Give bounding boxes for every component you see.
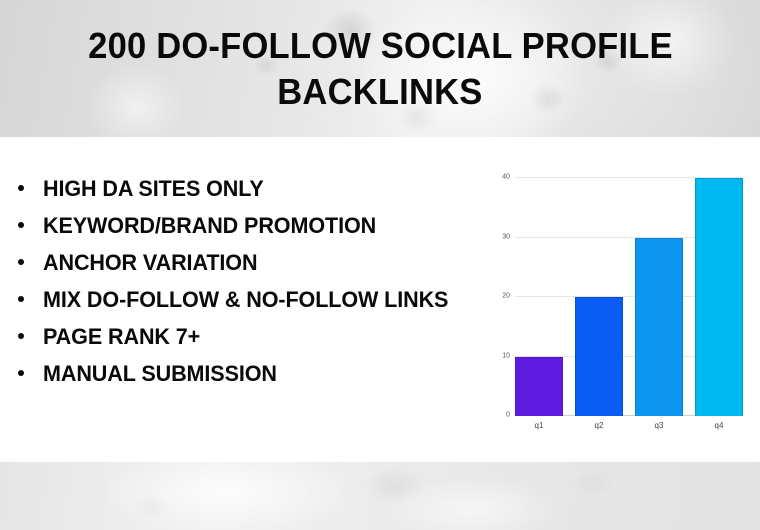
chart-bar-slot[interactable]: q1 [515, 178, 563, 416]
feature-list: HIGH DA SITES ONLY KEYWORD/BRAND PROMOTI… [18, 176, 457, 398]
list-item: ANCHOR VARIATION [18, 250, 457, 287]
chart-bars: q1q2q3q4 [515, 178, 743, 416]
x-axis-tick-label: q3 [635, 422, 683, 430]
page-title-line-2: BACKLINKS [277, 69, 482, 115]
feature-label: MANUAL SUBMISSION [43, 361, 277, 387]
feature-label: HIGH DA SITES ONLY [43, 176, 264, 202]
list-item: KEYWORD/BRAND PROMOTION [18, 213, 457, 250]
feature-label: ANCHOR VARIATION [43, 250, 257, 276]
list-item: MANUAL SUBMISSION [18, 361, 457, 398]
feature-label: KEYWORD/BRAND PROMOTION [43, 213, 376, 239]
list-item: MIX DO-FOLLOW & NO-FOLLOW LINKS [18, 287, 457, 324]
y-axis-tick-label: 0 [506, 412, 510, 419]
chart-bar[interactable] [635, 238, 683, 417]
feature-label: MIX DO-FOLLOW & NO-FOLLOW LINKS [43, 287, 448, 313]
list-item: PAGE RANK 7+ [18, 324, 457, 361]
y-axis-tick-label: 30 [502, 233, 510, 240]
bullet-dot-icon [18, 370, 24, 376]
bullet-dot-icon [18, 296, 24, 302]
chart-bar[interactable] [695, 178, 743, 416]
bar-chart: 010203040 q1q2q3q4 [490, 168, 752, 430]
page-title-line-1: 200 DO-FOLLOW SOCIAL PROFILE [88, 23, 673, 69]
poster-canvas: 200 DO-FOLLOW SOCIAL PROFILE BACKLINKS H… [0, 0, 760, 530]
footer-background-texture [0, 462, 760, 530]
x-axis-tick-label: q2 [575, 422, 623, 430]
chart-bar[interactable] [575, 297, 623, 416]
y-axis-tick-label: 20 [502, 293, 510, 300]
bullet-dot-icon [18, 259, 24, 265]
chart-bar[interactable] [515, 357, 563, 417]
chart-bar-slot[interactable]: q2 [575, 178, 623, 416]
bullet-dot-icon [18, 185, 24, 191]
page-title: 200 DO-FOLLOW SOCIAL PROFILE BACKLINKS [0, 0, 760, 137]
list-item: HIGH DA SITES ONLY [18, 176, 457, 213]
chart-bar-slot[interactable]: q3 [635, 178, 683, 416]
x-axis-tick-label: q1 [515, 422, 563, 430]
x-axis-tick-label: q4 [695, 422, 743, 430]
bullet-dot-icon [18, 222, 24, 228]
y-axis-tick-label: 10 [502, 352, 510, 359]
y-axis-tick-label: 40 [502, 174, 510, 181]
chart-bar-slot[interactable]: q4 [695, 178, 743, 416]
feature-label: PAGE RANK 7+ [43, 324, 200, 350]
bullet-dot-icon [18, 333, 24, 339]
chart-plot-area: 010203040 q1q2q3q4 [515, 178, 743, 416]
